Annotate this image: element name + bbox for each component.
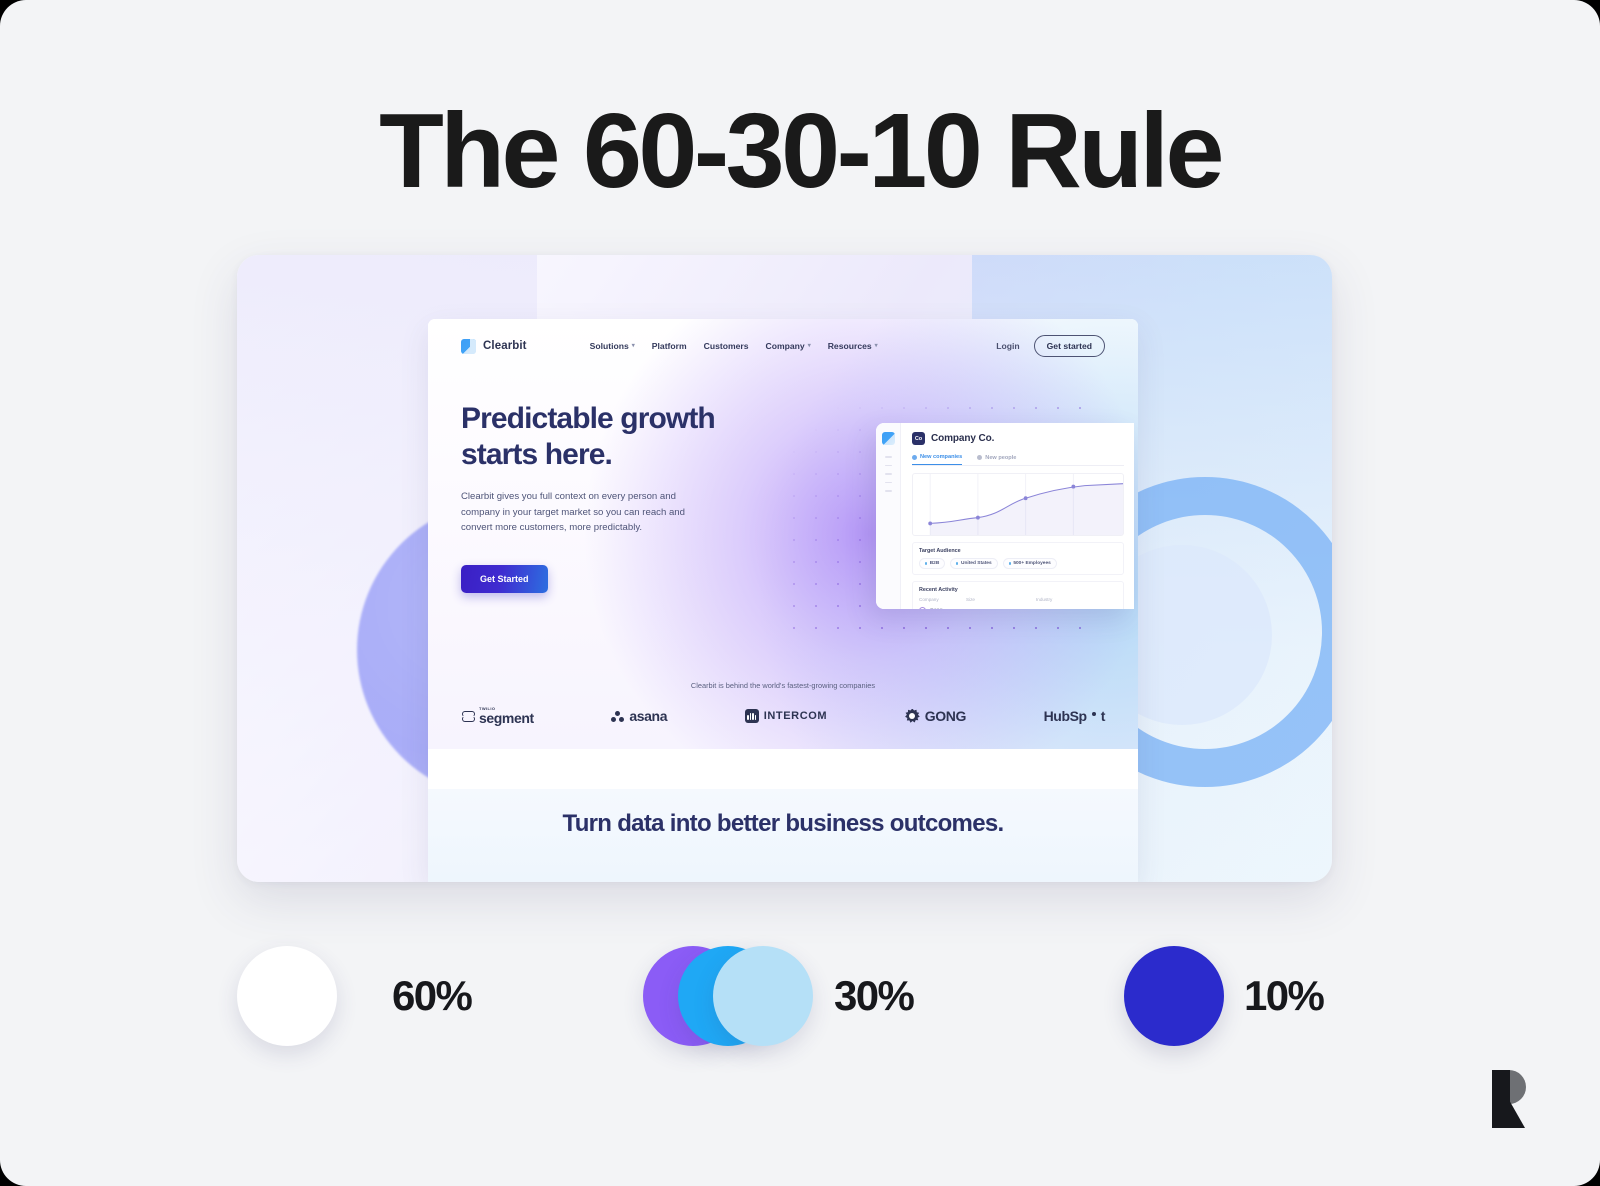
customer-logos: TWILIO segment asana xyxy=(428,707,1138,725)
nav-item-platform[interactable]: Platform xyxy=(652,341,687,351)
segment-icon xyxy=(461,710,474,723)
intercom-wordmark: INTERCOM xyxy=(764,710,827,722)
logo-hubspot: HubSp t xyxy=(1044,708,1105,724)
target-audience-panel: Target Audience B2B United States xyxy=(912,542,1124,575)
page-title: The 60-30-10 Rule xyxy=(0,96,1600,207)
nav-item-label: Platform xyxy=(652,341,687,351)
logo-intercom: INTERCOM xyxy=(745,709,827,723)
social-proof-caption: Clearbit is behind the world's fastest-g… xyxy=(428,681,1138,690)
tag-label: 500+ Employees xyxy=(1013,561,1050,566)
hero-body-text: Clearbit gives you full context on every… xyxy=(461,489,703,536)
r-logo-icon xyxy=(1484,1070,1528,1128)
people-icon xyxy=(977,455,982,460)
legend-item-30: 30% xyxy=(643,946,913,1046)
site-footer-section: Turn data into better business outcomes. xyxy=(428,789,1138,882)
tag-b2b[interactable]: B2B xyxy=(919,558,945,569)
clearbit-logo-icon xyxy=(461,339,476,354)
chevron-down-icon: ▾ xyxy=(632,343,635,349)
legend-percent-30: 30% xyxy=(834,972,913,1020)
nav-item-customers[interactable]: Customers xyxy=(704,341,749,351)
legend-percent-60: 60% xyxy=(392,972,471,1020)
hubspot-dot-icon xyxy=(1092,712,1096,716)
logo-segment: TWILIO segment xyxy=(461,707,534,725)
sidebar-item-placeholder xyxy=(885,465,892,467)
tag-dot-icon xyxy=(925,562,927,564)
company-name: Company Co. xyxy=(931,433,994,444)
tab-new-people[interactable]: New people xyxy=(977,454,1016,465)
companies-icon xyxy=(912,455,917,460)
recent-activity-title: Recent Activity xyxy=(919,587,1117,593)
hero-section: Predictable growth starts here. Clearbit… xyxy=(461,401,761,593)
dashboard-logo-icon xyxy=(882,432,895,445)
nav-item-label: Company xyxy=(766,341,805,351)
recent-activity-panel: Recent Activity Company Size Industry Go… xyxy=(912,581,1124,609)
tag-employees[interactable]: 500+ Employees xyxy=(1003,558,1057,569)
tag-united-states[interactable]: United States xyxy=(950,558,997,569)
nav-item-company[interactable]: Company ▾ xyxy=(766,341,811,351)
brand-logo[interactable]: Clearbit xyxy=(461,339,527,354)
company-avatar: Co xyxy=(912,432,925,445)
nav-item-solutions[interactable]: Solutions ▾ xyxy=(590,341,635,351)
legend-item-60: 60% xyxy=(237,946,471,1046)
swatch-accent-indigo xyxy=(1124,946,1224,1046)
hubspot-wordmark: HubSp xyxy=(1044,708,1087,724)
gong-wordmark: GONG xyxy=(925,708,966,724)
sidebar-item-placeholder xyxy=(885,490,892,492)
gong-avatar-icon xyxy=(919,607,926,609)
dashboard-sidebar xyxy=(876,423,901,609)
table-row[interactable]: Gong xyxy=(919,607,1117,609)
dashboard-card: Co Company Co. New companies New people xyxy=(876,423,1134,609)
tab-label: New companies xyxy=(920,454,962,460)
chart-svg xyxy=(913,474,1123,535)
intercom-icon xyxy=(745,709,759,723)
asana-wordmark: asana xyxy=(629,708,667,724)
page-canvas: The 60-30-10 Rule Clearbit Solutions ▾ xyxy=(0,0,1600,1186)
website-screenshot-card: Clearbit Solutions ▾ Platform Customers … xyxy=(237,255,1332,882)
tab-label: New people xyxy=(985,455,1016,461)
swatch-light-blue xyxy=(713,946,813,1046)
brand-name: Clearbit xyxy=(483,340,527,352)
get-started-nav-button[interactable]: Get started xyxy=(1034,335,1105,357)
chevron-down-icon: ▾ xyxy=(808,343,811,349)
nav-item-resources[interactable]: Resources ▾ xyxy=(828,341,878,351)
site-navbar: Clearbit Solutions ▾ Platform Customers … xyxy=(428,319,1138,373)
dashboard-header: Co Company Co. xyxy=(912,432,1124,445)
tab-new-companies[interactable]: New companies xyxy=(912,454,962,465)
login-link[interactable]: Login xyxy=(996,341,1019,351)
recent-activity-columns: Company Size Industry xyxy=(919,597,1117,602)
tag-dot-icon xyxy=(1009,562,1011,564)
tag-label: B2B xyxy=(930,561,940,566)
nav-item-label: Solutions xyxy=(590,341,629,351)
segment-wordmark: segment xyxy=(479,711,534,725)
dashboard-content: Co Company Co. New companies New people xyxy=(901,423,1134,609)
tag-label: United States xyxy=(961,561,992,566)
hero-get-started-button[interactable]: Get Started xyxy=(461,565,548,593)
hubspot-wordmark-suffix: t xyxy=(1101,708,1105,724)
swatch-dominant-white xyxy=(237,946,337,1046)
growth-line-chart xyxy=(912,473,1124,536)
swatch-stack-secondary xyxy=(643,946,813,1046)
nav-item-label: Customers xyxy=(704,341,749,351)
footer-headline: Turn data into better business outcomes. xyxy=(563,809,1004,840)
column-header-company: Company xyxy=(919,597,966,602)
row-company-name: Gong xyxy=(930,608,943,609)
nav-item-label: Resources xyxy=(828,341,872,351)
hero-headline: Predictable growth starts here. xyxy=(461,401,761,472)
nav-actions: Login Get started xyxy=(996,335,1105,357)
legend-percent-10: 10% xyxy=(1244,972,1323,1020)
gong-icon xyxy=(905,709,920,724)
target-audience-tags: B2B United States 500+ Employees xyxy=(919,558,1117,569)
asana-icon xyxy=(611,711,624,722)
color-ratio-legend: 60% 30% 10% xyxy=(0,938,1600,1074)
sidebar-item-placeholder xyxy=(885,473,892,475)
column-header-size: Size xyxy=(966,597,1036,602)
sidebar-item-placeholder xyxy=(885,482,892,484)
tag-dot-icon xyxy=(956,562,958,564)
logo-asana: asana xyxy=(611,708,667,724)
dashboard-tabs: New companies New people xyxy=(912,454,1124,466)
chevron-down-icon: ▾ xyxy=(875,343,878,349)
target-audience-title: Target Audience xyxy=(919,548,1117,554)
column-header-industry: Industry xyxy=(1036,597,1052,602)
legend-item-10: 10% xyxy=(1124,946,1323,1046)
nav-links: Solutions ▾ Platform Customers Company ▾ xyxy=(590,341,878,351)
sidebar-item-placeholder xyxy=(885,456,892,458)
logo-gong: GONG xyxy=(905,708,966,724)
embedded-website: Clearbit Solutions ▾ Platform Customers … xyxy=(428,319,1138,882)
